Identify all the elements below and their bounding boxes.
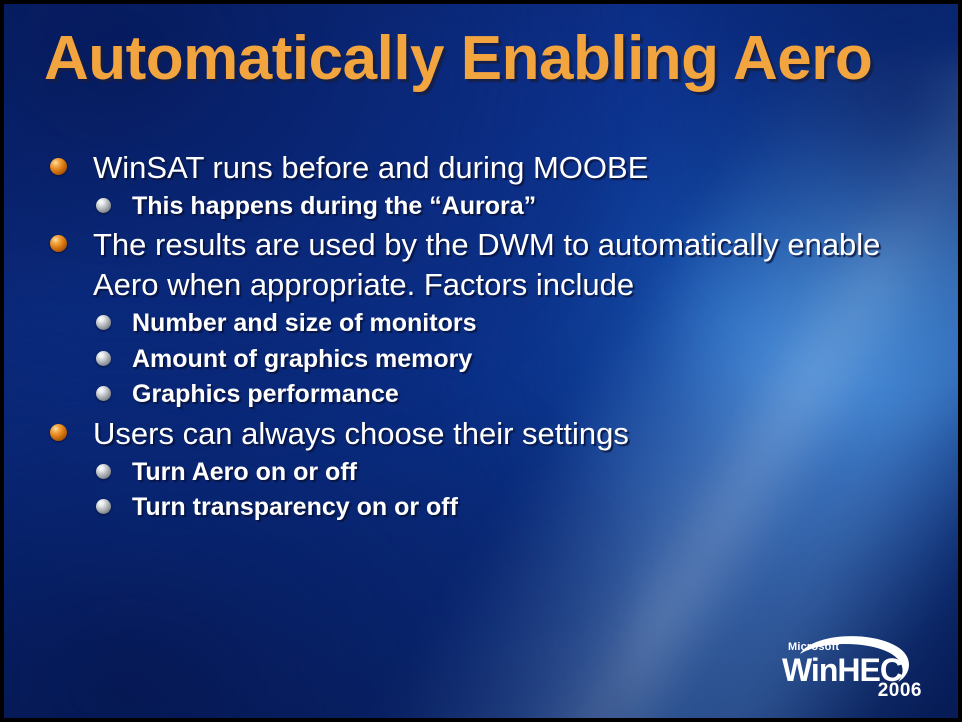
list-item-label: WinSAT runs before and during MOOBE <box>93 148 648 188</box>
silver-sphere-bullet-icon <box>96 386 111 401</box>
silver-sphere-bullet-icon <box>96 198 111 213</box>
list-item-label: This happens during the “Aurora” <box>132 190 536 223</box>
list-item: WinSAT runs before and during MOOBE <box>50 148 938 188</box>
list-item: Amount of graphics memory <box>96 343 938 376</box>
list-item-label: The results are used by the DWM to autom… <box>93 225 883 305</box>
winhec-logo: Microsoft WinHEC 2006 <box>772 632 940 708</box>
list-item-label: Turn transparency on or off <box>132 491 458 524</box>
list-item-label: Turn Aero on or off <box>132 456 357 489</box>
list-item: Turn transparency on or off <box>96 491 938 524</box>
list-item: This happens during the “Aurora” <box>96 190 938 223</box>
presentation-slide: Automatically Enabling Aero WinSAT runs … <box>0 0 962 722</box>
orange-sphere-bullet-icon <box>50 158 67 175</box>
list-item: Number and size of monitors <box>96 307 938 340</box>
list-item-label: Graphics performance <box>132 378 399 411</box>
list-item: The results are used by the DWM to autom… <box>50 225 938 305</box>
list-item: Graphics performance <box>96 378 938 411</box>
list-item-label: Amount of graphics memory <box>132 343 472 376</box>
slide-body: WinSAT runs before and during MOOBE This… <box>50 148 938 527</box>
orange-sphere-bullet-icon <box>50 235 67 252</box>
list-item-label: Number and size of monitors <box>132 307 476 340</box>
silver-sphere-bullet-icon <box>96 351 111 366</box>
silver-sphere-bullet-icon <box>96 464 111 479</box>
silver-sphere-bullet-icon <box>96 315 111 330</box>
list-item: Turn Aero on or off <box>96 456 938 489</box>
silver-sphere-bullet-icon <box>96 499 111 514</box>
list-item-label: Users can always choose their settings <box>93 414 629 454</box>
orange-sphere-bullet-icon <box>50 424 67 441</box>
slide-title: Automatically Enabling Aero <box>44 26 928 91</box>
list-item: Users can always choose their settings <box>50 414 938 454</box>
logo-year-label: 2006 <box>878 680 922 702</box>
